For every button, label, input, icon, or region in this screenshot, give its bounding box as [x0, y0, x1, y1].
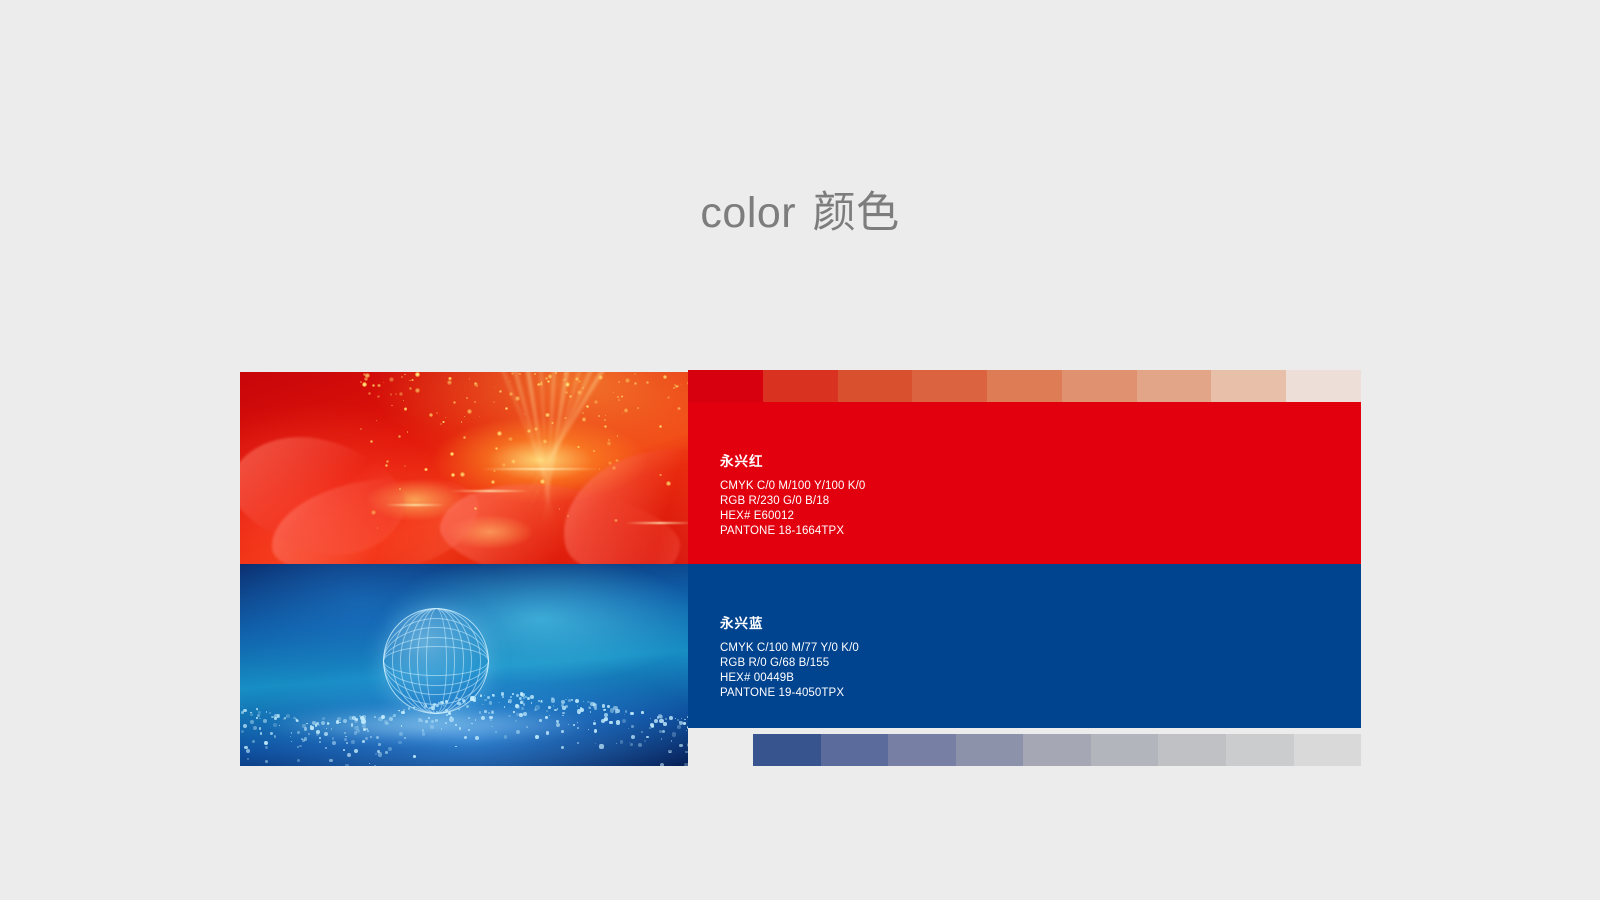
blue-particle [401, 711, 404, 714]
blue-particle [414, 709, 415, 710]
page-title-cn: 颜色 [813, 189, 900, 237]
blue-particle [513, 711, 514, 712]
ember-particle [389, 377, 394, 382]
ember-particle [564, 417, 566, 419]
ember-particle [666, 481, 671, 486]
blue-particle [339, 722, 341, 724]
blue-particle [316, 730, 320, 734]
blue-particle [297, 759, 301, 763]
light-streak-3 [625, 522, 688, 524]
blue-particle [463, 700, 467, 704]
red-rgb-value: RGB R/230 G/0 B/18 [720, 494, 1361, 509]
blue-particle [629, 742, 630, 743]
blue-particle [302, 724, 305, 727]
blue-particle [250, 713, 253, 716]
ember-particle [442, 421, 445, 424]
blue-particle [620, 740, 623, 743]
blue-particle [445, 722, 447, 724]
blue-particle [520, 692, 523, 695]
ember-particle [493, 401, 495, 403]
ember-particle [386, 460, 389, 463]
ember-particle [604, 425, 607, 428]
blue-particle [475, 736, 479, 740]
blue-tint-swatch-1 [821, 734, 889, 766]
ember-particle [681, 384, 683, 386]
ember-particle [617, 435, 618, 436]
ember-particle [415, 372, 419, 376]
blue-particle [491, 726, 493, 728]
blue-particle [273, 723, 277, 727]
blue-particle [562, 712, 565, 715]
blue-particle [684, 763, 688, 766]
blue-particle [381, 715, 385, 719]
blue-particle [367, 730, 369, 732]
blue-particle [328, 723, 330, 725]
blue-particle [484, 699, 486, 701]
blue-particle [604, 717, 608, 721]
blue-particle [385, 751, 388, 754]
blue-particle [256, 717, 258, 719]
red-hex-value: HEX# E60012 [720, 509, 1361, 524]
blue-particle [329, 759, 332, 762]
ember-particle [474, 507, 476, 509]
blue-particle [468, 717, 470, 719]
blue-particle [562, 715, 564, 717]
blue-tint-strip [753, 734, 1361, 766]
blue-particle [324, 732, 328, 736]
blue-particle [425, 720, 428, 723]
blue-particle [525, 696, 527, 698]
blue-particle [565, 699, 567, 701]
blue-particle [345, 736, 346, 737]
blue-particle [346, 742, 347, 743]
ember-particle [460, 472, 465, 477]
blue-particle [595, 743, 597, 745]
blue-particle [274, 717, 277, 720]
blue-particle [573, 724, 575, 726]
page-title: color 颜色 [0, 178, 1600, 240]
blue-particle [546, 710, 548, 712]
blue-tint-swatch-7 [1226, 734, 1294, 766]
ember-particle [622, 412, 624, 414]
blue-particle [241, 730, 244, 733]
ember-particle [362, 382, 367, 387]
ember-particle [407, 431, 408, 432]
blue-particle [604, 709, 605, 710]
blue-particle [577, 705, 579, 707]
blue-particle [487, 696, 490, 699]
ember-particle [599, 468, 601, 470]
blue-particle [538, 700, 540, 702]
blue-particle [243, 724, 247, 728]
blue-particle [436, 705, 438, 707]
blue-particle [430, 725, 434, 729]
blue-particle [263, 719, 266, 722]
blue-particle [622, 719, 626, 723]
blue-particle [683, 722, 685, 724]
ember-particle [404, 374, 405, 375]
blue-particle [374, 765, 376, 766]
ember-particle [372, 384, 375, 387]
blue-particle [418, 718, 422, 722]
ember-particle [411, 379, 413, 381]
ember-particle [395, 393, 397, 395]
blue-particle [376, 736, 379, 739]
blue-particle [677, 725, 680, 728]
ember-particle [424, 468, 428, 472]
blue-particle [401, 725, 403, 727]
ember-particle [466, 397, 468, 399]
ember-particle [368, 392, 371, 395]
ember-particle [399, 488, 401, 490]
ember-particle [634, 382, 637, 385]
blue-particle [631, 725, 634, 728]
ember-particle [604, 419, 606, 421]
ember-particle [511, 459, 516, 464]
blue-particle [610, 708, 614, 712]
blue-particle [687, 743, 688, 747]
page-title-en: color [700, 189, 796, 237]
ember-particle [677, 407, 681, 411]
blue-particle [481, 716, 485, 720]
blue-particle [679, 744, 682, 747]
ember-particle [404, 465, 406, 467]
ember-particle [578, 380, 581, 383]
blue-particle [668, 750, 672, 754]
blue-particle [378, 743, 381, 746]
blue-particle [583, 701, 584, 702]
ember-particle [600, 376, 602, 378]
blue-particle [408, 707, 411, 710]
blue-particle [351, 723, 353, 725]
blue-particle [362, 740, 365, 743]
blue-particle [344, 732, 345, 733]
ember-particle [409, 380, 411, 382]
ember-particle [612, 466, 616, 470]
ember-particle [618, 381, 620, 383]
blue-particle [398, 710, 399, 711]
blue-particle [577, 727, 579, 729]
blue-particle [551, 697, 554, 700]
blue-particle [516, 705, 520, 709]
ember-particle [547, 380, 550, 383]
blue-particle [242, 706, 243, 707]
blue-particle [568, 699, 571, 702]
ember-particle [479, 416, 480, 417]
blue-swatch-name: 永兴蓝 [720, 612, 1361, 632]
ember-particle [593, 450, 595, 452]
blue-particle [616, 720, 620, 724]
blue-particle [297, 746, 299, 748]
blue-particle [501, 692, 504, 695]
blue-particle [464, 736, 467, 739]
ember-particle [497, 431, 502, 436]
ember-particle [569, 395, 572, 398]
blue-particle [344, 738, 347, 741]
red-swatch-panel: 永兴红 CMYK C/0 M/100 Y/100 K/0 RGB R/230 G… [688, 402, 1361, 566]
blue-particle [492, 712, 493, 713]
blue-particle [370, 736, 372, 738]
blue-particle [302, 739, 305, 742]
ember-particle [502, 463, 506, 467]
blue-particle [441, 728, 442, 729]
blue-particle [403, 709, 405, 711]
blue-particle [458, 708, 460, 710]
blue-tint-swatch-2 [888, 734, 956, 766]
blue-particle [625, 710, 627, 712]
ember-particle [617, 396, 619, 398]
blue-particle [638, 743, 642, 747]
palette-section: 永兴红 CMYK C/0 M/100 Y/100 K/0 RGB R/230 G… [240, 370, 1361, 766]
ember-particle [474, 401, 476, 403]
blue-particle [290, 736, 291, 737]
ember-particle [509, 392, 513, 396]
ember-particle [663, 375, 667, 379]
ember-particle [403, 400, 404, 401]
blue-particle [362, 724, 366, 728]
blue-particle [388, 747, 392, 751]
blue-particle [413, 707, 415, 709]
blue-particle [247, 758, 249, 760]
blue-particle [516, 730, 520, 734]
blue-particle [322, 717, 325, 720]
blue-particle [568, 724, 569, 725]
ember-particle [540, 479, 545, 484]
ember-particle [499, 390, 502, 393]
blue-particle [527, 697, 531, 701]
ember-particle [494, 387, 495, 388]
blue-particle [343, 749, 345, 751]
blue-particle [259, 727, 262, 730]
ember-particle [390, 393, 393, 396]
blue-particle [512, 693, 514, 695]
blue-particle [443, 705, 444, 706]
blue-particle [473, 699, 476, 702]
blue-particle [291, 732, 293, 734]
blue-particle [308, 733, 310, 735]
blue-particle [378, 752, 382, 756]
ember-particle [429, 413, 433, 417]
ember-particle [634, 373, 636, 375]
blue-particle [362, 715, 366, 719]
blue-particle [577, 722, 579, 724]
ember-particle [493, 470, 495, 472]
blue-particle [347, 753, 351, 757]
ember-particle [565, 391, 568, 394]
ember-particle [673, 387, 675, 389]
blue-particle [482, 704, 483, 705]
blue-particle [489, 716, 492, 719]
blue-particle [488, 712, 490, 714]
blue-particle [602, 704, 606, 708]
ember-particle [385, 464, 388, 467]
blue-particle [510, 696, 511, 697]
ember-particle [625, 378, 630, 383]
blue-particle [310, 726, 313, 729]
blue-particle [553, 705, 554, 706]
blue-particle [561, 704, 564, 707]
blue-particle [321, 721, 325, 725]
light-streak-2 [385, 504, 445, 506]
ember-particle [461, 421, 462, 422]
blue-particle [516, 713, 519, 716]
blue-particle [354, 726, 358, 730]
blue-particle [599, 744, 603, 748]
ember-particle [539, 382, 543, 386]
ember-particle [436, 412, 438, 414]
ember-particle [594, 400, 598, 404]
ember-particle [447, 380, 452, 385]
blue-particle [270, 732, 273, 735]
blue-particle [669, 716, 673, 720]
blue-particle [428, 717, 430, 719]
blue-particle [298, 720, 300, 722]
blue-particle [337, 717, 341, 721]
blue-particle [616, 743, 617, 744]
blue-particle [259, 718, 260, 719]
blue-hex-value: HEX# 00449B [720, 671, 1361, 686]
blue-particle [681, 718, 683, 720]
blue-particle [286, 714, 289, 717]
blue-particle [628, 728, 629, 729]
blue-particle [297, 731, 300, 734]
blue-particle [624, 714, 625, 715]
blue-particle [299, 745, 301, 747]
blue-particle [686, 730, 687, 731]
light-streak-0 [480, 468, 600, 470]
blue-particle [399, 732, 403, 736]
blue-particle [256, 708, 257, 709]
blue-particle [253, 726, 257, 730]
ember-particle [377, 395, 380, 398]
blue-particle [365, 737, 368, 740]
ember-particle [519, 373, 521, 375]
blue-particle [375, 753, 376, 754]
blue-tint-swatch-4 [1023, 734, 1091, 766]
ember-particle [618, 399, 620, 401]
blue-particle [448, 712, 451, 715]
blue-tint-swatch-3 [956, 734, 1024, 766]
blue-particle [274, 735, 277, 738]
blue-rgb-value: RGB R/0 G/68 B/155 [720, 656, 1361, 671]
blue-particle [577, 742, 579, 744]
blue-particle [440, 701, 443, 704]
blue-particle-field [240, 670, 688, 766]
blue-particle [319, 741, 321, 743]
ember-particle [565, 382, 570, 387]
blue-particle [455, 724, 457, 726]
blue-particle [531, 702, 532, 703]
blue-particle [631, 735, 635, 739]
ember-particle [377, 384, 380, 387]
blue-particle [590, 702, 594, 706]
blue-particle [325, 747, 327, 749]
ember-particle [451, 473, 455, 477]
blue-particle [471, 723, 473, 725]
ember-particle [637, 407, 639, 409]
blue-particle [590, 711, 592, 713]
ember-particle [524, 413, 525, 414]
ember-particle [370, 440, 373, 443]
blue-particle [659, 730, 662, 733]
blue-particle [575, 699, 579, 703]
ember-particle [365, 375, 366, 376]
ember-particle [467, 409, 472, 414]
ember-particle [608, 461, 612, 465]
ember-particle [624, 408, 629, 413]
blue-particle [250, 720, 254, 724]
blue-particle [641, 711, 644, 714]
blue-particle [458, 698, 461, 701]
blue-particle [468, 729, 470, 731]
blue-particle [257, 714, 260, 717]
blue-particle [445, 709, 448, 712]
blue-particle [374, 716, 376, 718]
blue-particle [663, 722, 667, 726]
blue-particle [651, 725, 654, 728]
blue-tint-swatch-0 [753, 734, 821, 766]
blue-particle [326, 728, 327, 729]
blue-particle [332, 741, 336, 745]
ember-particle [463, 436, 466, 439]
ember-particle [567, 515, 569, 517]
blue-particle [671, 740, 672, 741]
ember-particle [543, 439, 548, 444]
blue-particle [310, 725, 312, 727]
blue-particle [556, 723, 560, 727]
color-row-red: 永兴红 CMYK C/0 M/100 Y/100 K/0 RGB R/230 G… [240, 372, 1361, 566]
ember-particle [371, 510, 376, 515]
blue-particle [594, 720, 595, 721]
blue-particle [265, 760, 268, 763]
ember-particle [659, 425, 662, 428]
ember-particle [445, 417, 446, 418]
blue-tint-swatch-6 [1158, 734, 1226, 766]
ember-particle [548, 374, 553, 379]
color-spec-page: color 颜色 永兴红 CMYK C/0 M/100 Y/100 K/0 RG… [0, 0, 1600, 900]
blue-particle [571, 699, 572, 700]
ember-particle [582, 417, 587, 422]
blue-particle [343, 719, 347, 723]
ember-particle [598, 415, 600, 417]
blue-particle [349, 716, 353, 720]
blue-particle [369, 763, 370, 764]
blue-particle [354, 731, 358, 735]
blue-particle [332, 737, 334, 739]
ember-particle [391, 405, 393, 407]
ember-particle [621, 395, 624, 398]
blue-particle [351, 740, 355, 744]
blue-particle [475, 719, 476, 720]
blue-particle [523, 712, 527, 716]
blue-particle [266, 711, 268, 713]
blue-particle [246, 749, 250, 753]
blue-particle [291, 741, 292, 742]
blue-particle [594, 729, 598, 733]
blue-particle [526, 726, 528, 728]
blue-particle [445, 700, 449, 704]
blue-particle [508, 715, 510, 717]
blue-particle [422, 729, 424, 731]
ember-particle [615, 459, 619, 463]
ember-particle [360, 428, 362, 430]
ember-particle [667, 396, 671, 400]
blue-particle [319, 737, 322, 740]
blue-pantone-value: PANTONE 19-4050TPX [720, 686, 1361, 701]
blue-particle [539, 719, 542, 722]
blue-particle [660, 763, 664, 766]
blue-particle [345, 764, 349, 766]
